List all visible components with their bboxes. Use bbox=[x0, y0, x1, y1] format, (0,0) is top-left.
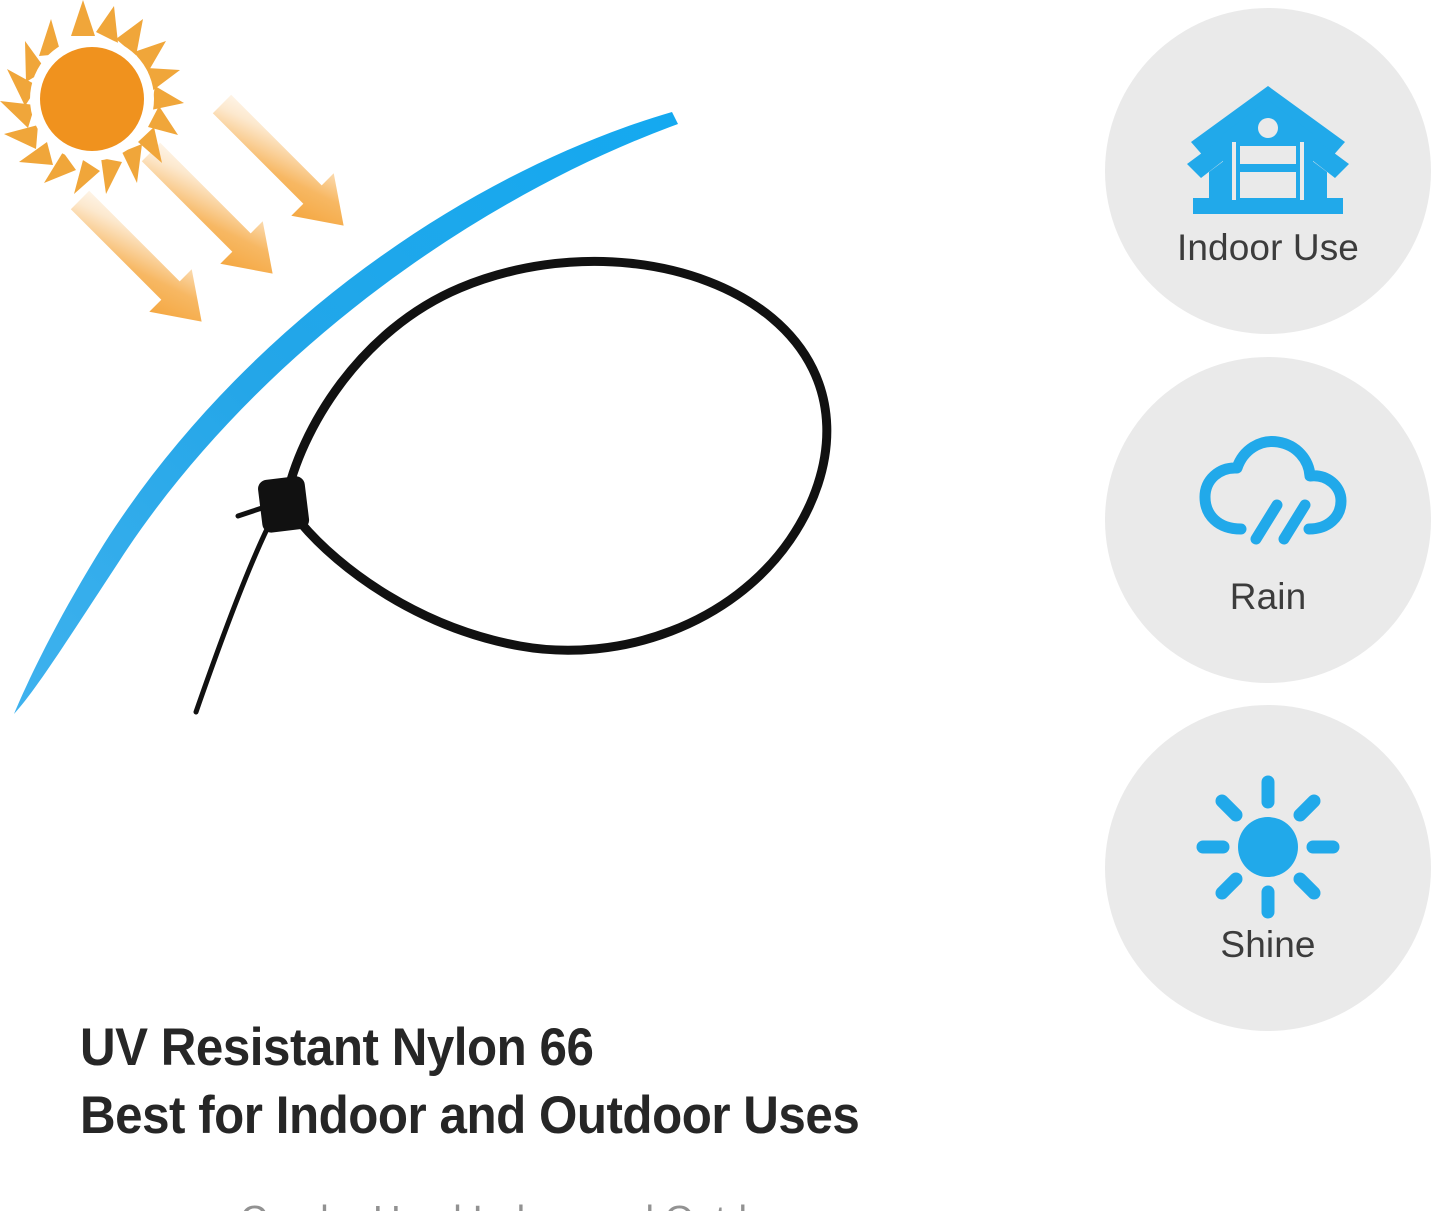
product-illustration bbox=[0, 0, 1080, 1000]
feature-badge-indoor-use[interactable]: Indoor Use bbox=[1105, 8, 1431, 334]
feature-badge-label: Shine bbox=[1220, 926, 1315, 965]
uv-shield-arc-icon bbox=[14, 112, 678, 714]
house-icon bbox=[1183, 75, 1353, 225]
feature-badge-rain[interactable]: Rain bbox=[1105, 357, 1431, 683]
headline-block: UV Resistant Nylon 66 Best for Indoor an… bbox=[80, 1014, 1080, 1150]
feature-badge-shine[interactable]: Shine bbox=[1105, 705, 1431, 1031]
headline-line-2: Best for Indoor and Outdoor Uses bbox=[80, 1082, 1010, 1150]
feature-badge-label: Indoor Use bbox=[1177, 229, 1359, 268]
infographic-canvas: Indoor Use Rain bbox=[0, 0, 1432, 1211]
sun-icon bbox=[1183, 772, 1353, 922]
feature-badge-list: Indoor Use Rain bbox=[1105, 8, 1432, 1038]
headline-line-1: UV Resistant Nylon 66 bbox=[80, 1014, 1010, 1082]
headline-line-3-cropped: Can be Used Indoor and Outdoor bbox=[240, 1196, 1040, 1211]
feature-badge-label: Rain bbox=[1230, 578, 1307, 617]
rain-cloud-icon bbox=[1183, 424, 1353, 574]
